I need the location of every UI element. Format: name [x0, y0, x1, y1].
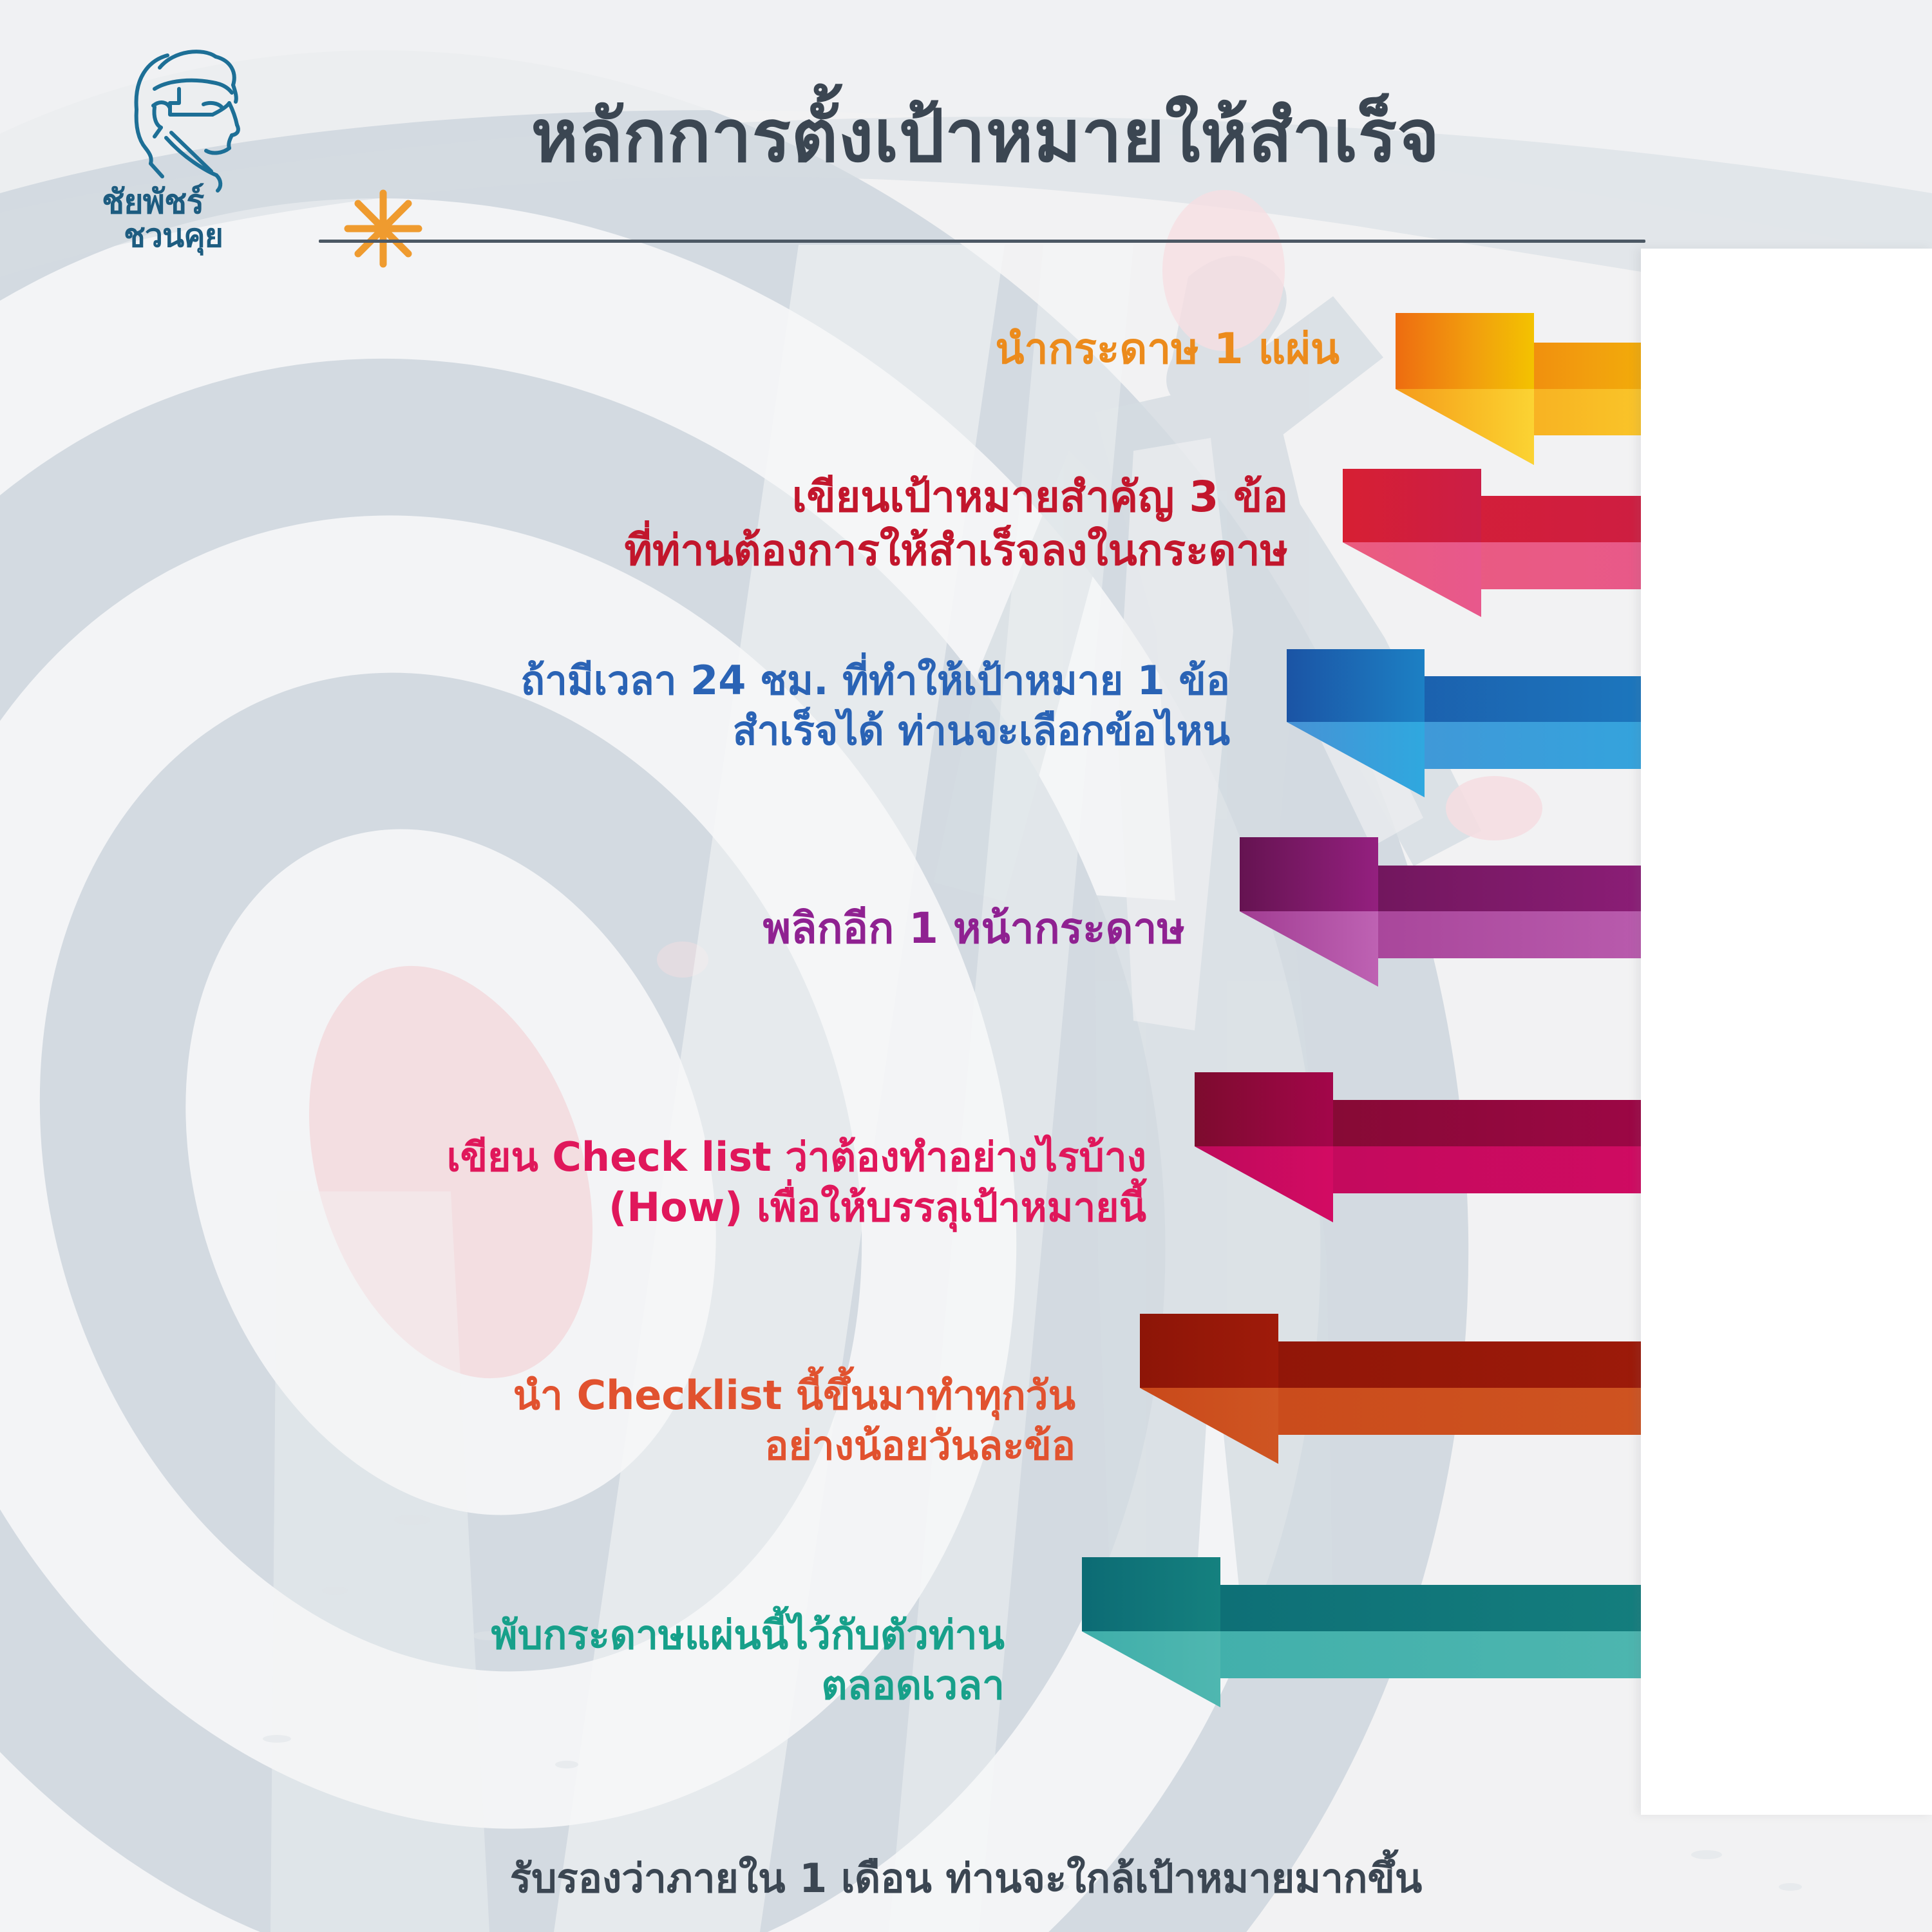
brand-wordmark: ชัยพัชร์ ชวนคุย	[102, 185, 256, 252]
page-title: หลักการตั้งเป้าหมายให้สำเร็จ	[322, 97, 1649, 177]
title-divider	[319, 240, 1645, 243]
step-label-2: เขียนเป้าหมายสำคัญ 3 ข้อ ที่ท่านต้องการใ…	[361, 470, 1288, 577]
step-label-6: นำ Checklist นี้ขึ้นมาทำทุกวัน อย่างน้อย…	[309, 1370, 1075, 1471]
asterisk-star-icon	[341, 187, 425, 270]
face-profile-icon	[84, 39, 296, 206]
brand-line-2: ชวนคุย	[102, 220, 256, 252]
infographic-canvas: ชัยพัชร์ ชวนคุย หลักการตั้งเป้าหมายให้สำ…	[0, 0, 1932, 1932]
footer-note: รับรองว่าภายใน 1 เดือน ท่านจะใกล้เป้าหมา…	[258, 1847, 1674, 1910]
brand-logo[interactable]: ชัยพัชร์ ชวนคุย	[84, 39, 328, 258]
right-white-panel	[1641, 249, 1932, 1815]
step-label-3: ถ้ามีเวลา 24 ชม. ที่ทำให้เป้าหมาย 1 ข้อ …	[245, 656, 1230, 756]
step-label-7: พับกระดาษแผ่นนี้ไว้กับตัวท่าน ตลอดเวลา	[270, 1610, 1005, 1710]
step-label-5: เขียน Check list ว่าต้องทำอย่างไรบ้าง (H…	[213, 1132, 1146, 1233]
brand-line-1: ชัยพัชร์	[102, 185, 256, 220]
step-label-4: พลิกอีก 1 หน้ากระดาษ	[489, 902, 1185, 955]
step-label-1: นำกระดาษ 1 แผ่น	[580, 322, 1340, 375]
